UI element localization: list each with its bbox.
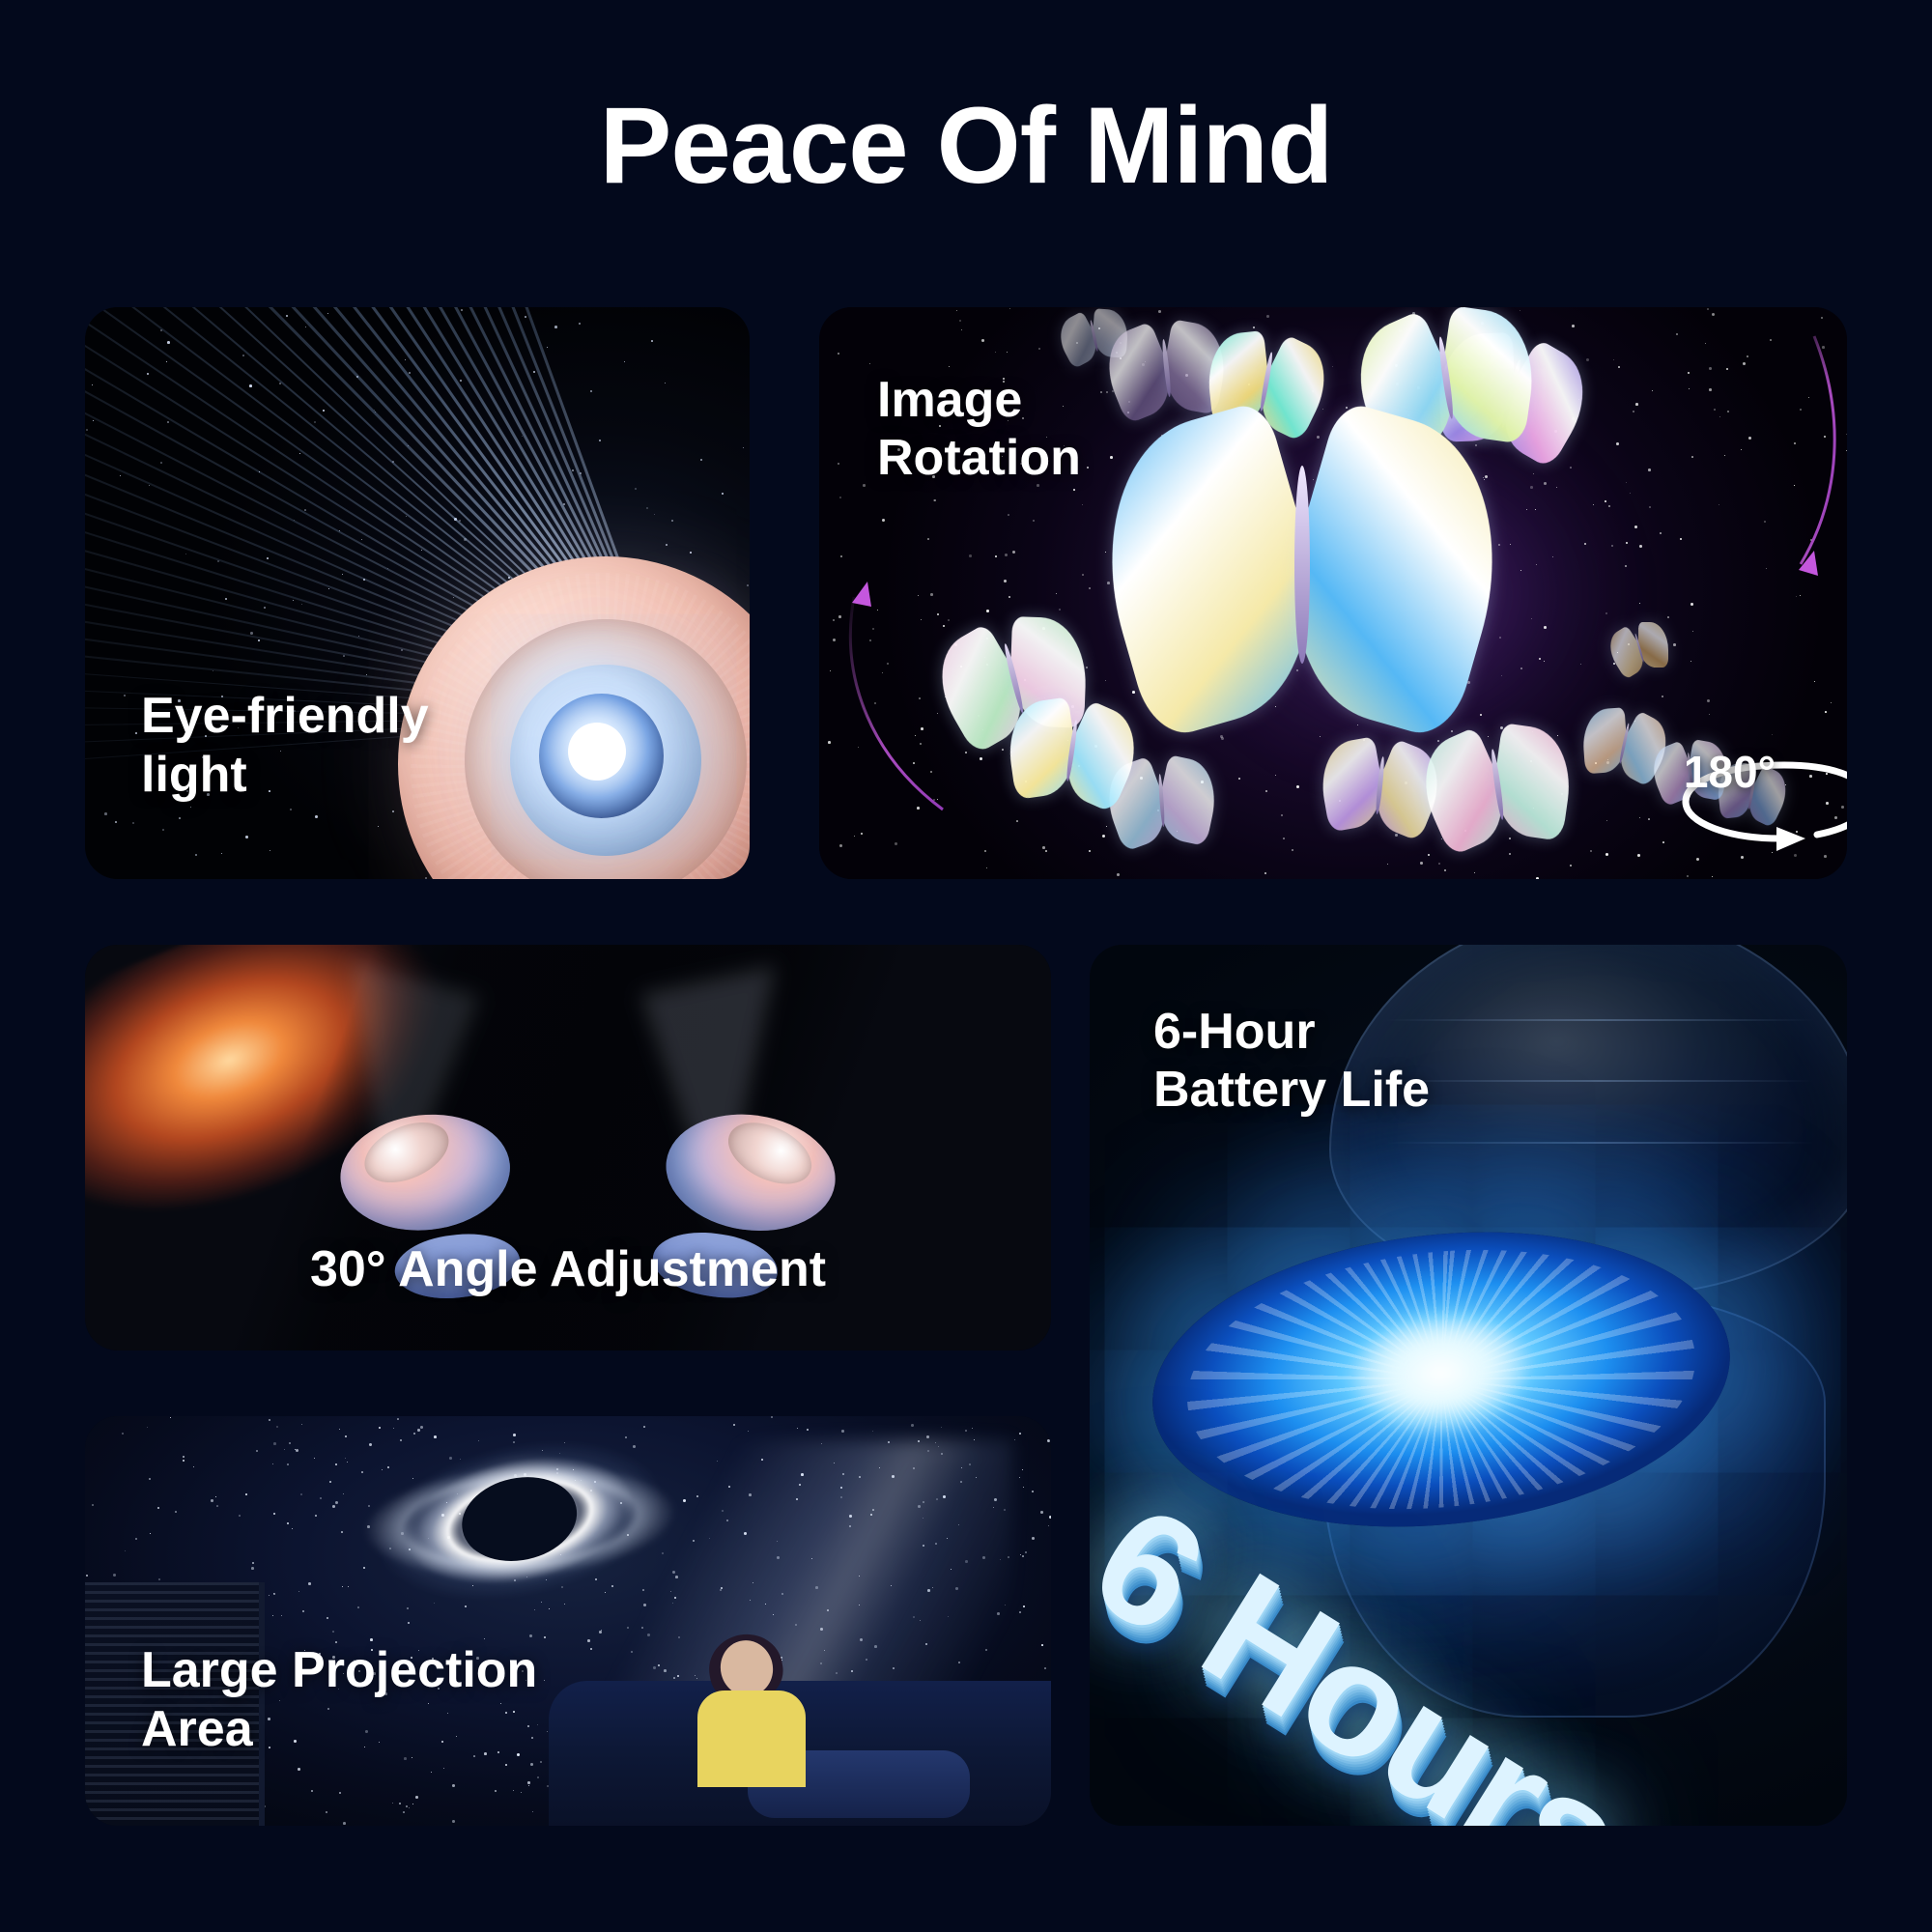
panel-label-battery-life: 6-Hour Battery Life: [1153, 1003, 1430, 1120]
rotation-badge: 180°: [1684, 746, 1776, 798]
panel-label-eye-friendly-light: Eye-friendly light: [141, 687, 429, 804]
person-looking-up: [694, 1640, 810, 1785]
marketing-page: Peace Of Mind Eye-friendly light: [0, 0, 1932, 1932]
projector-device: [398, 556, 750, 879]
panel-battery-life[interactable]: 6-Hour Battery Life 6 Hours: [1090, 945, 1847, 1826]
page-title: Peace Of Mind: [0, 89, 1932, 203]
panel-label-large-projection-area: Large Projection Area: [141, 1641, 537, 1758]
person-torso: [697, 1690, 806, 1787]
rotation-badge-value: 180°: [1684, 746, 1776, 798]
panel-image-rotation[interactable]: Image Rotation 180°: [819, 307, 1847, 879]
panel-eye-friendly-light[interactable]: Eye-friendly light: [85, 307, 750, 879]
panel-angle-adjustment[interactable]: 30° Angle Adjustment: [85, 945, 1051, 1350]
panel-large-projection-area[interactable]: Large Projection Area: [85, 1416, 1051, 1826]
panel-label-angle-adjustment: 30° Angle Adjustment: [85, 1240, 1051, 1298]
panel-label-image-rotation: Image Rotation: [877, 371, 1081, 488]
